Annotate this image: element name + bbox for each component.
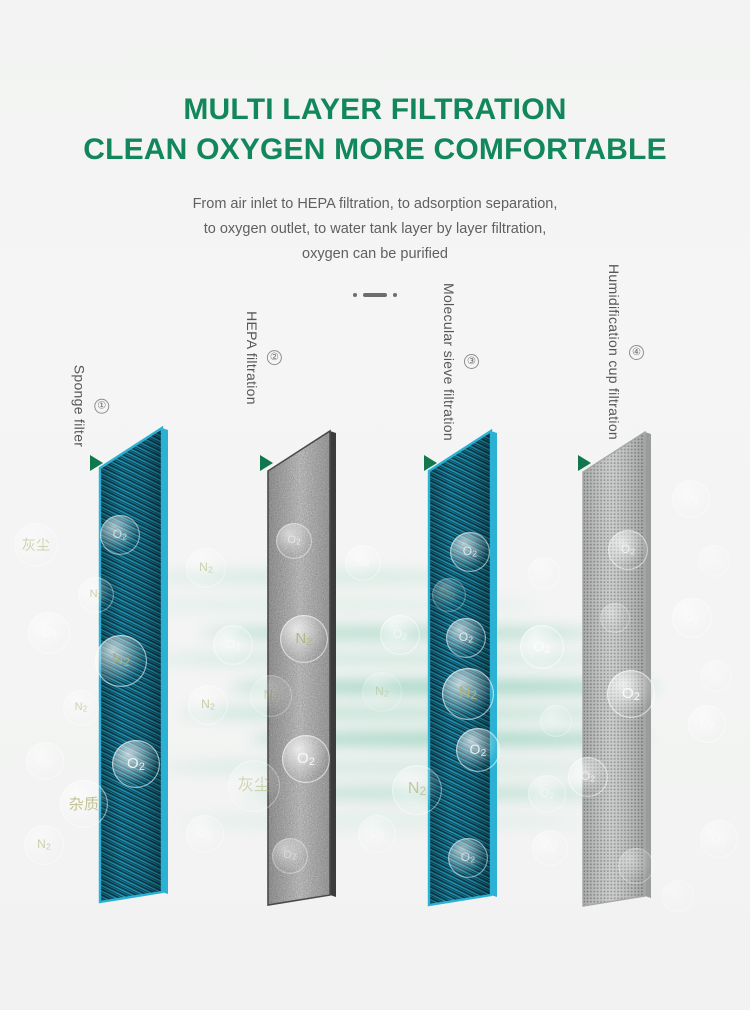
flow-arrow-3 — [424, 455, 437, 471]
stage-label-text-2: HEPA filtration — [244, 311, 260, 405]
filter-panel-3-molecular-sieve[interactable] — [429, 427, 509, 909]
flow-arrow-1 — [90, 455, 103, 471]
stage-number-1: ① — [94, 398, 109, 413]
stage-label-1: ① Sponge filter — [71, 365, 109, 448]
stage-number-4: ④ — [629, 345, 644, 360]
stage-number-3: ③ — [464, 354, 479, 369]
stage-label-text-4: Humidification cup filtration — [606, 264, 622, 440]
filter-panel-1-sponge[interactable] — [100, 424, 180, 906]
stage-number-2: ② — [267, 350, 282, 365]
stage-label-2: ② HEPA filtration — [244, 311, 282, 405]
flow-arrow-2 — [260, 455, 273, 471]
stage-label-3: ③ Molecular sieve filtration — [441, 283, 479, 441]
filter-panel-4-humidification-cup[interactable] — [583, 428, 663, 910]
stage-label-4: ④ Humidification cup filtration — [606, 264, 644, 440]
stage-label-text-3: Molecular sieve filtration — [441, 283, 457, 441]
infographic-canvas: MULTI LAYER FILTRATION CLEAN OXYGEN MORE… — [0, 0, 750, 1010]
stage-label-text-1: Sponge filter — [71, 365, 87, 448]
filter-panels — [0, 0, 750, 1010]
flow-arrow-4 — [578, 455, 591, 471]
filter-panel-2-hepa[interactable] — [268, 427, 348, 909]
